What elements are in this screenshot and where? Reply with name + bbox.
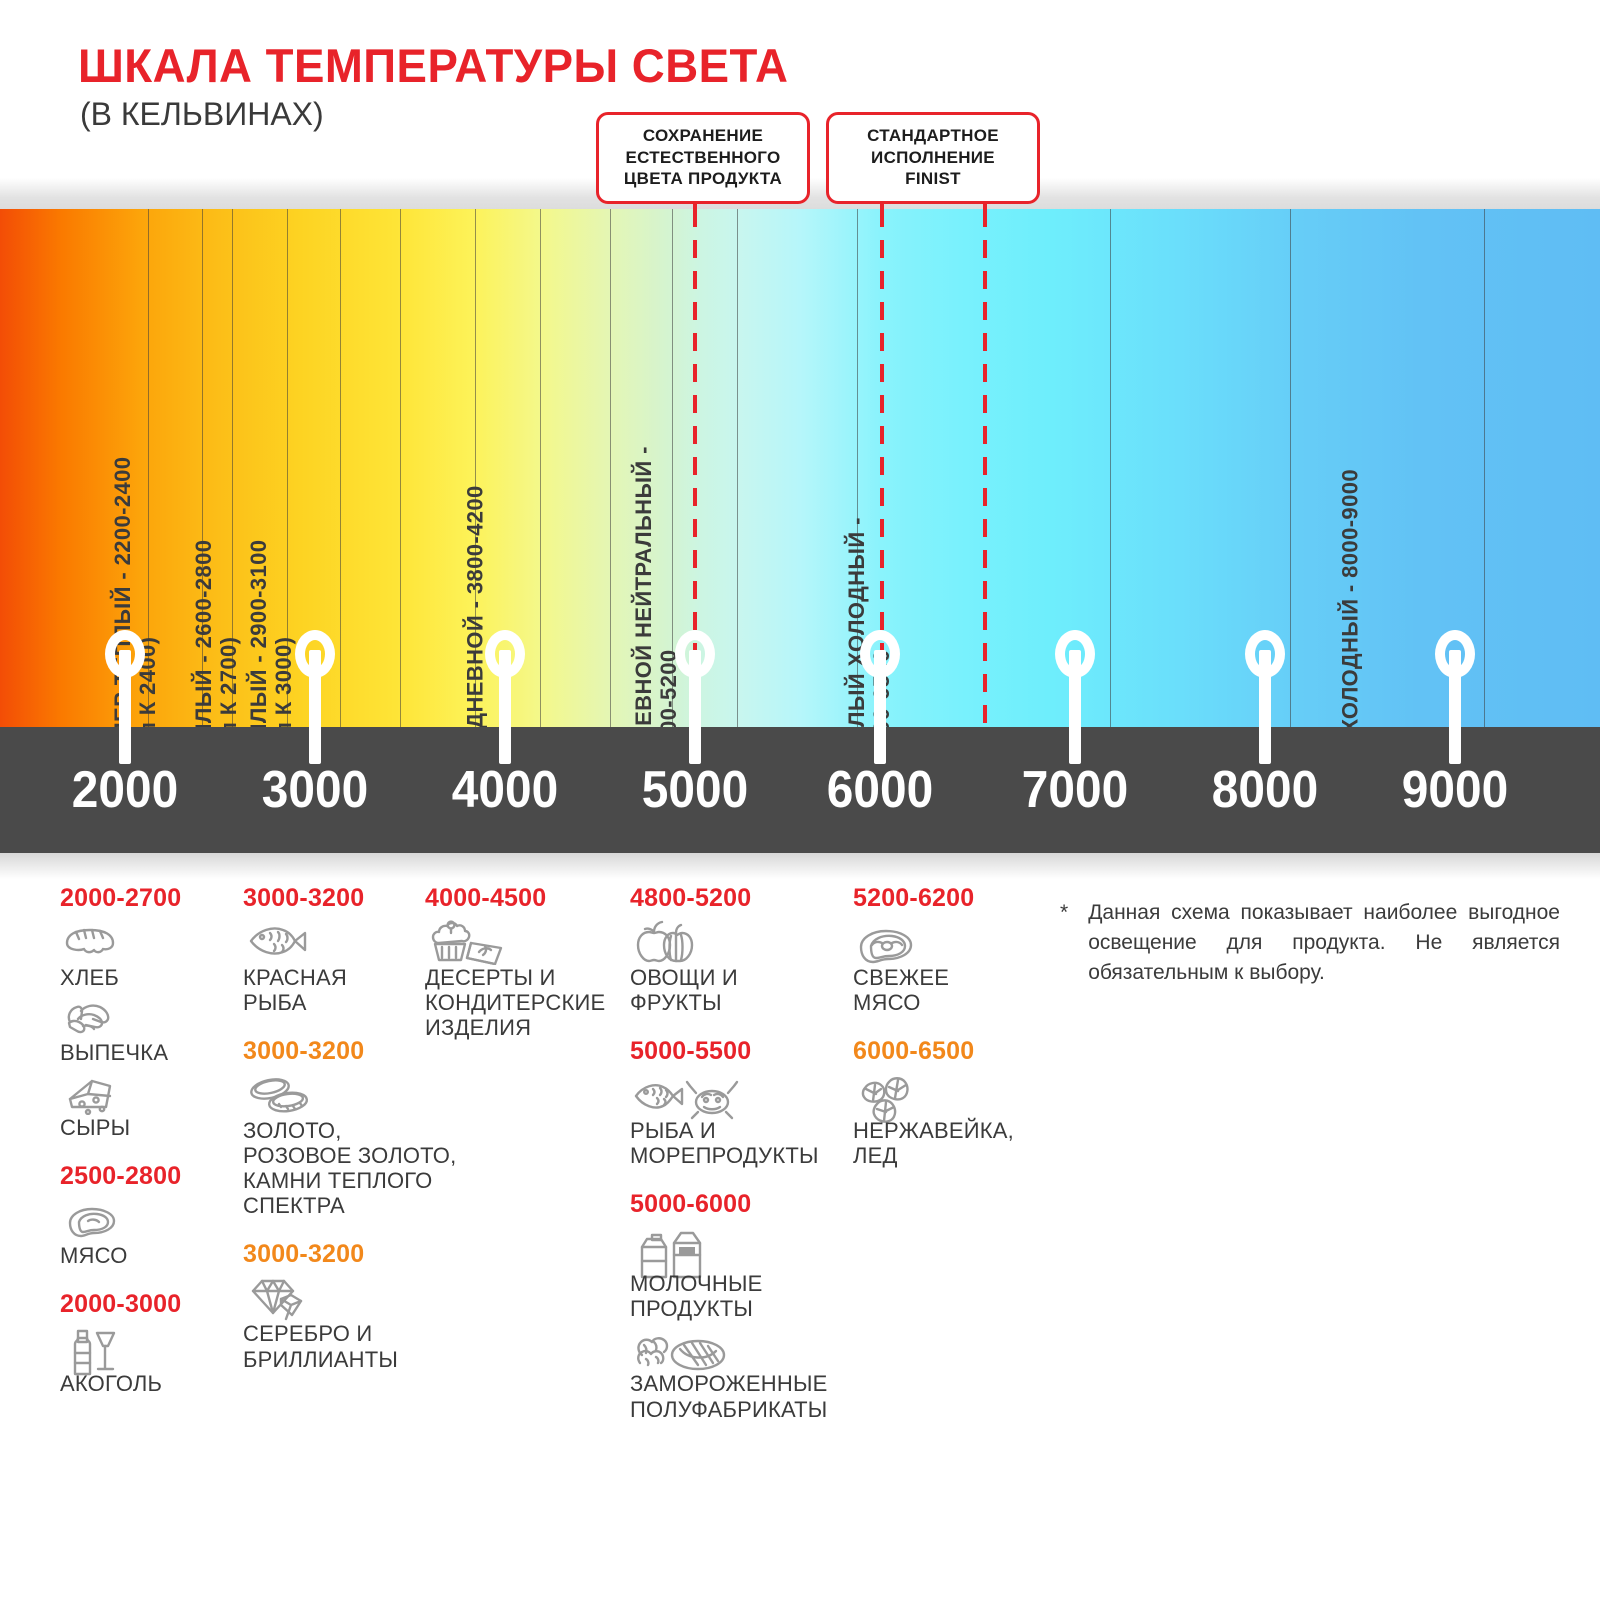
band-label-line1: ХОЛОДНЫЙ - 8000-9000 bbox=[1338, 234, 1363, 727]
callout-line: ИСПОЛНЕНИЕ bbox=[843, 147, 1023, 169]
tick-ring bbox=[485, 630, 525, 678]
scale-tick-6000 bbox=[855, 630, 905, 770]
footnote: * Данная схема показывает наиболее выгод… bbox=[1060, 898, 1560, 987]
legend-item-name: ХЛЕБ bbox=[60, 965, 245, 990]
legend-item-name-line: ФРУКТЫ bbox=[630, 990, 855, 1015]
legend-column-col-4: 4800-5200ОВОЩИ ИФРУКТЫ5000-5500РЫБА ИМОР… bbox=[630, 884, 855, 1444]
band-divider bbox=[400, 209, 401, 727]
temperature-range-label: 2000-3000 bbox=[60, 1290, 245, 1319]
temperature-range-label: 6000-6500 bbox=[853, 1037, 1048, 1066]
band-bottom-shadow bbox=[0, 853, 1600, 879]
legend-group: 3000-3200ЗОЛОТО,РОЗОВОЕ ЗОЛОТО,КАМНИ ТЕП… bbox=[243, 1037, 483, 1218]
tick-ring bbox=[1435, 630, 1475, 678]
legend-group: 4000-4500ДЕСЕРТЫ ИКОНДИТЕРСКИЕИЗДЕЛИЯ bbox=[425, 884, 620, 1040]
scale-tick-label: 7000 bbox=[983, 760, 1167, 820]
legend-item-name-line: СПЕКТРА bbox=[243, 1193, 483, 1218]
legend-item-name-line: ЛЕД bbox=[853, 1143, 1048, 1168]
temperature-range-label: 4000-4500 bbox=[425, 884, 620, 913]
legend-item: ХЛЕБ bbox=[60, 919, 245, 990]
bread-icon bbox=[62, 919, 245, 963]
scale-tick-4000 bbox=[480, 630, 530, 770]
legend-item-name-line: КОНДИТЕРСКИЕ bbox=[425, 990, 620, 1015]
legend-item: НЕРЖАВЕЙКА,ЛЕД bbox=[853, 1072, 1048, 1168]
temperature-range-label: 5000-6000 bbox=[630, 1190, 855, 1219]
legend-item: СВЕЖЕЕМЯСО bbox=[853, 919, 1048, 1015]
croissant-icon bbox=[62, 994, 245, 1038]
legend-item-name: СЕРЕБРО ИБРИЛЛИАНТЫ bbox=[243, 1321, 483, 1371]
band-divider bbox=[540, 209, 541, 727]
reference-dashed-line bbox=[983, 209, 987, 727]
ice-cubes-icon bbox=[855, 1072, 1048, 1116]
scale-tick-3000 bbox=[290, 630, 340, 770]
legend-column-col-1: 2000-2700ХЛЕБВЫПЕЧКАСЫРЫ2500-2800МЯСО200… bbox=[60, 884, 245, 1418]
scale-tick-label: 9000 bbox=[1363, 760, 1547, 820]
scale-tick-2000 bbox=[100, 630, 150, 770]
legend-item-name-line: АКОГОЛЬ bbox=[60, 1371, 245, 1396]
scale-tick-5000 bbox=[670, 630, 720, 770]
frozen-food-icon bbox=[632, 1325, 855, 1369]
footnote-marker: * bbox=[1060, 898, 1068, 987]
callout-line: ЦВЕТА ПРОДУКТА bbox=[613, 168, 793, 190]
band-divider bbox=[1484, 209, 1485, 727]
legend-item-name: ДЕСЕРТЫ ИКОНДИТЕРСКИЕИЗДЕЛИЯ bbox=[425, 965, 620, 1040]
band-divider bbox=[610, 209, 611, 727]
legend-item-name-line: МЯСО bbox=[60, 1243, 245, 1268]
dessert-icon bbox=[427, 919, 620, 963]
legend-item-name-line: КАМНИ ТЕПЛОГО bbox=[243, 1168, 483, 1193]
alcohol-icon bbox=[62, 1325, 245, 1369]
band-divider bbox=[737, 209, 738, 727]
legend-item: СЕРЕБРО ИБРИЛЛИАНТЫ bbox=[243, 1275, 483, 1371]
legend-item: МЯСО bbox=[60, 1197, 245, 1268]
legend-group: 5000-6000МОЛОЧНЫЕ ПРОДУКТЫЗАМОРОЖЕННЫЕПО… bbox=[630, 1190, 855, 1421]
page-subtitle: (В КЕЛЬВИНАХ) bbox=[80, 96, 324, 133]
temperature-range-label: 5200-6200 bbox=[853, 884, 1048, 913]
legend-group: 5200-6200СВЕЖЕЕМЯСО bbox=[853, 884, 1048, 1015]
legend-item-name: НЕРЖАВЕЙКА,ЛЕД bbox=[853, 1118, 1048, 1168]
temperature-range-label: 2000-2700 bbox=[60, 884, 245, 913]
temperature-range-label: 5000-5500 bbox=[630, 1037, 855, 1066]
callout-line: СТАНДАРТНОЕ bbox=[843, 125, 1023, 147]
callout-line: FINIST bbox=[843, 168, 1023, 190]
legend-group: 4800-5200ОВОЩИ ИФРУКТЫ bbox=[630, 884, 855, 1015]
fruit-vegetable-icon bbox=[632, 919, 855, 963]
band-divider bbox=[340, 209, 341, 727]
legend-item: МОЛОЧНЫЕ ПРОДУКТЫ bbox=[630, 1225, 855, 1321]
callout-line: ЕСТЕСТВЕННОГО bbox=[613, 147, 793, 169]
cheese-icon bbox=[62, 1069, 245, 1113]
legend-item-name-line: ЗАМОРОЖЕННЫЕ bbox=[630, 1371, 855, 1396]
legend-item-name-line: ОВОЩИ И bbox=[630, 965, 855, 990]
legend-group: 2500-2800МЯСО bbox=[60, 1162, 245, 1268]
infographic-root: ШКАЛА ТЕМПЕРАТУРЫ СВЕТА (В КЕЛЬВИНАХ) * … bbox=[0, 0, 1600, 1600]
legend-item: ЗОЛОТО,РОЗОВОЕ ЗОЛОТО,КАМНИ ТЕПЛОГОСПЕКТ… bbox=[243, 1072, 483, 1218]
band-label-line1: ТЕПЛЫЙ - 2900-3100 bbox=[247, 258, 272, 727]
temperature-range-label: 3000-3200 bbox=[243, 1240, 483, 1269]
scale-tick-label: 3000 bbox=[223, 760, 407, 820]
legend-item-name: ЗОЛОТО,РОЗОВОЕ ЗОЛОТО,КАМНИ ТЕПЛОГОСПЕКТ… bbox=[243, 1118, 483, 1218]
band-label-line1: ДНЕВНОЙ НЕЙТРАЛЬНЫЙ - bbox=[632, 258, 657, 727]
tick-ring bbox=[295, 630, 335, 678]
tick-ring bbox=[105, 630, 145, 678]
legend-item: ВЫПЕЧКА bbox=[60, 994, 245, 1065]
tick-ring bbox=[675, 630, 715, 678]
legend-item-name-line: МЯСО bbox=[853, 990, 1048, 1015]
legend-item-name-line: СЫРЫ bbox=[60, 1115, 245, 1140]
milk-icon bbox=[632, 1225, 855, 1269]
legend-item: ЗАМОРОЖЕННЫЕПОЛУФАБРИКАТЫ bbox=[630, 1325, 855, 1421]
steak-icon bbox=[855, 919, 1048, 963]
legend-group: 2000-2700ХЛЕБВЫПЕЧКАСЫРЫ bbox=[60, 884, 245, 1140]
legend-item-name: МОЛОЧНЫЕ ПРОДУКТЫ bbox=[630, 1271, 855, 1321]
band-divider bbox=[1290, 209, 1291, 727]
legend-item-name-line: НЕРЖАВЕЙКА, bbox=[853, 1118, 1048, 1143]
footnote-text: Данная схема показывает наиболее выгодно… bbox=[1088, 898, 1560, 987]
legend-item-name-line: ХЛЕБ bbox=[60, 965, 245, 990]
rings-icon bbox=[245, 1072, 483, 1116]
color-temperature-gradient: СУПЕР ТЕПЛЫЙ - 2200-2400(тип К 2400)ТЕПЛ… bbox=[0, 209, 1600, 727]
legend-item: АКОГОЛЬ bbox=[60, 1325, 245, 1396]
legend-item-name: ЗАМОРОЖЕННЫЕПОЛУФАБРИКАТЫ bbox=[630, 1371, 855, 1421]
legend-group: 6000-6500НЕРЖАВЕЙКА,ЛЕД bbox=[853, 1037, 1048, 1168]
scale-tick-label: 8000 bbox=[1173, 760, 1357, 820]
legend-item-name-line: СВЕЖЕЕ bbox=[853, 965, 1048, 990]
temperature-range-label: 4800-5200 bbox=[630, 884, 855, 913]
tick-ring bbox=[1055, 630, 1095, 678]
temperature-range-label: 2500-2800 bbox=[60, 1162, 245, 1191]
callout-natural-color: СОХРАНЕНИЕЕСТЕСТВЕННОГОЦВЕТА ПРОДУКТА bbox=[596, 112, 810, 204]
scale-tick-label: 2000 bbox=[33, 760, 217, 820]
band-divider bbox=[1110, 209, 1111, 727]
legend-item: ОВОЩИ ИФРУКТЫ bbox=[630, 919, 855, 1015]
legend-item-name-line: МОРЕПРОДУКТЫ bbox=[630, 1143, 855, 1168]
legend-item-name: РЫБА ИМОРЕПРОДУКТЫ bbox=[630, 1118, 855, 1168]
legend-item-name: МЯСО bbox=[60, 1243, 245, 1268]
legend-item-name: СВЕЖЕЕМЯСО bbox=[853, 965, 1048, 1015]
legend-item-name-line: РЫБА И bbox=[630, 1118, 855, 1143]
legend-item-name-line: СЕРЕБРО И bbox=[243, 1321, 483, 1346]
diamond-icon bbox=[245, 1275, 483, 1319]
legend-group: 3000-3200СЕРЕБРО ИБРИЛЛИАНТЫ bbox=[243, 1240, 483, 1371]
callout-line: СОХРАНЕНИЕ bbox=[613, 125, 793, 147]
seafood-icon bbox=[632, 1072, 855, 1116]
legend-item: СЫРЫ bbox=[60, 1069, 245, 1140]
legend-column-col-5: 5200-6200СВЕЖЕЕМЯСО6000-6500НЕРЖАВЕЙКА,Л… bbox=[853, 884, 1048, 1190]
legend-item-name-line: ИЗДЕЛИЯ bbox=[425, 1015, 620, 1040]
scale-tick-label: 6000 bbox=[788, 760, 972, 820]
tick-ring bbox=[860, 630, 900, 678]
legend-area: * Данная схема показывает наиболее выгод… bbox=[0, 884, 1600, 1600]
legend-item-name-line: ПОЛУФАБРИКАТЫ bbox=[630, 1397, 855, 1422]
scale-tick-9000 bbox=[1430, 630, 1480, 770]
scale-tick-label: 5000 bbox=[603, 760, 787, 820]
legend-column-col-3: 4000-4500ДЕСЕРТЫ ИКОНДИТЕРСКИЕИЗДЕЛИЯ bbox=[425, 884, 620, 1044]
legend-item-name-line: БРИЛЛИАНТЫ bbox=[243, 1347, 483, 1372]
legend-item-name-line: МОЛОЧНЫЕ ПРОДУКТЫ bbox=[630, 1271, 855, 1321]
legend-item-name-line: ЗОЛОТО, bbox=[243, 1118, 483, 1143]
legend-item-name: ОВОЩИ ИФРУКТЫ bbox=[630, 965, 855, 1015]
legend-item: ДЕСЕРТЫ ИКОНДИТЕРСКИЕИЗДЕЛИЯ bbox=[425, 919, 620, 1040]
legend-item-name-line: ВЫПЕЧКА bbox=[60, 1040, 245, 1065]
legend-item-name-line: ДЕСЕРТЫ И bbox=[425, 965, 620, 990]
legend-item: РЫБА ИМОРЕПРОДУКТЫ bbox=[630, 1072, 855, 1168]
band-label-line1: ТЕПЛЫЙ - 2600-2800 bbox=[192, 258, 217, 727]
scale-tick-7000 bbox=[1050, 630, 1100, 770]
band-label-line2: (тип К 2700) bbox=[216, 258, 241, 727]
callout-finist-standard: СТАНДАРТНОЕИСПОЛНЕНИЕFINIST bbox=[826, 112, 1040, 204]
meat-icon bbox=[62, 1197, 245, 1241]
legend-item-name-line: РОЗОВОЕ ЗОЛОТО, bbox=[243, 1143, 483, 1168]
legend-item-name: ВЫПЕЧКА bbox=[60, 1040, 245, 1065]
legend-item-name: АКОГОЛЬ bbox=[60, 1371, 245, 1396]
page-title: ШКАЛА ТЕМПЕРАТУРЫ СВЕТА bbox=[78, 38, 788, 93]
legend-group: 2000-3000АКОГОЛЬ bbox=[60, 1290, 245, 1396]
legend-item-name: СЫРЫ bbox=[60, 1115, 245, 1140]
scale-tick-label: 4000 bbox=[413, 760, 597, 820]
legend-group: 5000-5500РЫБА ИМОРЕПРОДУКТЫ bbox=[630, 1037, 855, 1168]
scale-tick-8000 bbox=[1240, 630, 1290, 770]
tick-ring bbox=[1245, 630, 1285, 678]
